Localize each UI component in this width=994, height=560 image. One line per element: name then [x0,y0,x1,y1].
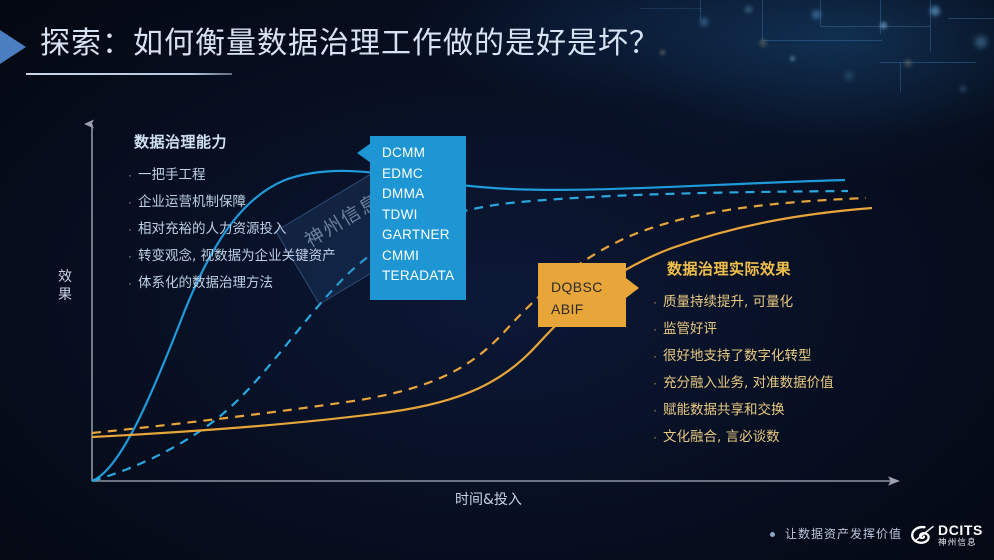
list-item: · 一把手工程 [128,166,398,184]
bullet-icon: · [128,247,138,265]
bullet-icon: · [653,293,663,311]
bullet-icon: · [653,428,663,446]
list-item: · 文化融合, 言必谈数 [653,428,953,446]
list-item-label: 很好地支持了数字化转型 [663,347,812,365]
slide-footer: 让数据资产发挥价值 DCITS 神州信息 [760,520,994,554]
list-item: · 赋能数据共享和交换 [653,401,953,419]
standards-callout-tab-icon [357,143,371,163]
list-item: GARTNER [382,225,474,246]
list-item-label: 文化融合, 言必谈数 [663,428,780,446]
list-item: · 转变观念, 视数据为企业关键资产 [128,247,398,265]
list-item: DQBSC [551,276,603,298]
x-axis-label: 时间&投入 [455,489,522,509]
list-item: · 体系化的数据治理方法 [128,274,398,292]
slide-canvas: 探索：如何衡量数据治理工作做的是好是坏？ 效果 时间&投入 神州信息 数方志 [0,0,994,560]
list-item: EDMC [382,164,474,185]
bullet-dot-icon [770,532,775,537]
list-item: TERADATA [382,266,474,287]
bullet-icon: · [653,374,663,392]
metrics-callout-tab-icon [626,278,639,298]
logo-subtitle: 神州信息 [938,536,977,548]
list-item-label: 赋能数据共享和交换 [663,401,785,419]
list-item: ABIF [551,298,603,320]
list-item: · 监管好评 [653,320,953,338]
list-item-label: 体系化的数据治理方法 [138,274,273,292]
bullet-icon: · [128,274,138,292]
list-item: · 质量持续提升, 可量化 [653,293,953,311]
list-item-label: 充分融入业务, 对准数据价值 [663,374,834,392]
bullet-icon: · [128,193,138,211]
outcomes-panel-title: 数据治理实际效果 [653,258,953,279]
list-item-label: 监管好评 [663,320,717,338]
bullet-icon: · [128,220,138,238]
list-item-label: 一把手工程 [138,166,206,184]
bullet-icon: · [653,347,663,365]
list-item-label: 质量持续提升, 可量化 [663,293,793,311]
list-item-label: 转变观念, 视数据为企业关键资产 [138,247,336,265]
outcomes-panel: 数据治理实际效果 · 质量持续提升, 可量化 · 监管好评 · 很好地支持了数字… [653,258,953,455]
list-item: DCMM [382,143,474,164]
list-item: DMMA [382,184,474,205]
list-item: · 充分融入业务, 对准数据价值 [653,374,953,392]
standards-list: DCMM EDMC DMMA TDWI GARTNER CMMI TERADAT… [382,143,474,287]
company-logo: DCITS 神州信息 [910,521,994,549]
y-axis-label: 效果 [54,268,76,304]
footer-slogan: 让数据资产发挥价值 [785,525,902,542]
list-item: · 相对充裕的人力资源投入 [128,220,398,238]
list-item: · 很好地支持了数字化转型 [653,347,953,365]
list-item: CMMI [382,246,474,267]
dcits-swirl-icon [910,524,934,546]
list-item-label: 相对充裕的人力资源投入 [138,220,287,238]
bullet-icon: · [653,401,663,419]
metrics-list: DQBSC ABIF [551,276,603,320]
bullet-icon: · [653,320,663,338]
bullet-icon: · [128,166,138,184]
list-item: TDWI [382,205,474,226]
list-item-label: 企业运营机制保障 [138,193,246,211]
list-item: · 企业运营机制保障 [128,193,398,211]
